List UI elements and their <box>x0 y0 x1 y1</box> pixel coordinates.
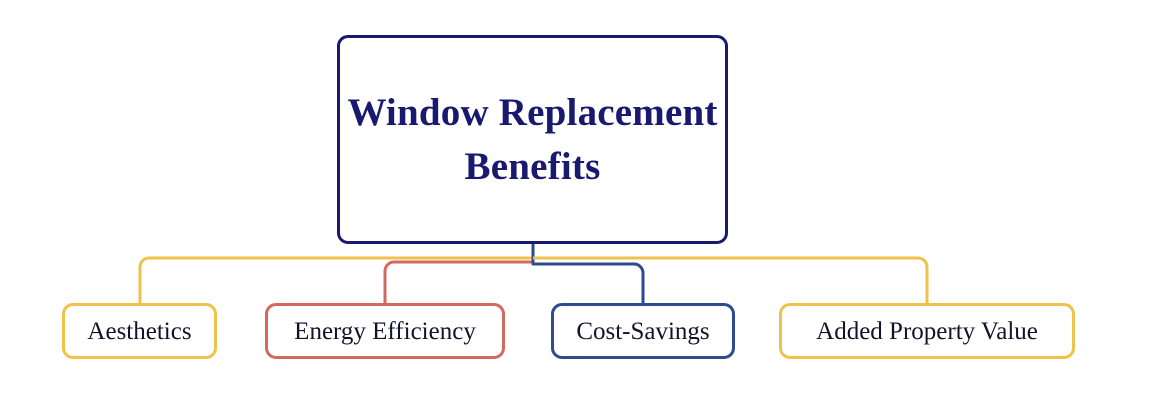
connector-aesthetics <box>140 244 533 303</box>
mind-map-diagram: Window Replacement Benefits Aesthetics E… <box>0 0 1149 406</box>
node-cost-savings[interactable]: Cost-Savings <box>551 303 735 359</box>
connector-energy-efficiency <box>385 244 533 303</box>
node-energy-efficiency[interactable]: Energy Efficiency <box>265 303 505 359</box>
node-root-label: Window Replacement Benefits <box>340 86 725 192</box>
connector-cost-savings <box>533 244 643 303</box>
node-aesthetics[interactable]: Aesthetics <box>62 303 217 359</box>
node-added-property-value-label: Added Property Value <box>816 319 1038 344</box>
node-root[interactable]: Window Replacement Benefits <box>337 35 728 244</box>
node-aesthetics-label: Aesthetics <box>87 319 191 344</box>
node-energy-efficiency-label: Energy Efficiency <box>294 319 476 344</box>
node-added-property-value[interactable]: Added Property Value <box>779 303 1075 359</box>
node-cost-savings-label: Cost-Savings <box>576 319 709 344</box>
